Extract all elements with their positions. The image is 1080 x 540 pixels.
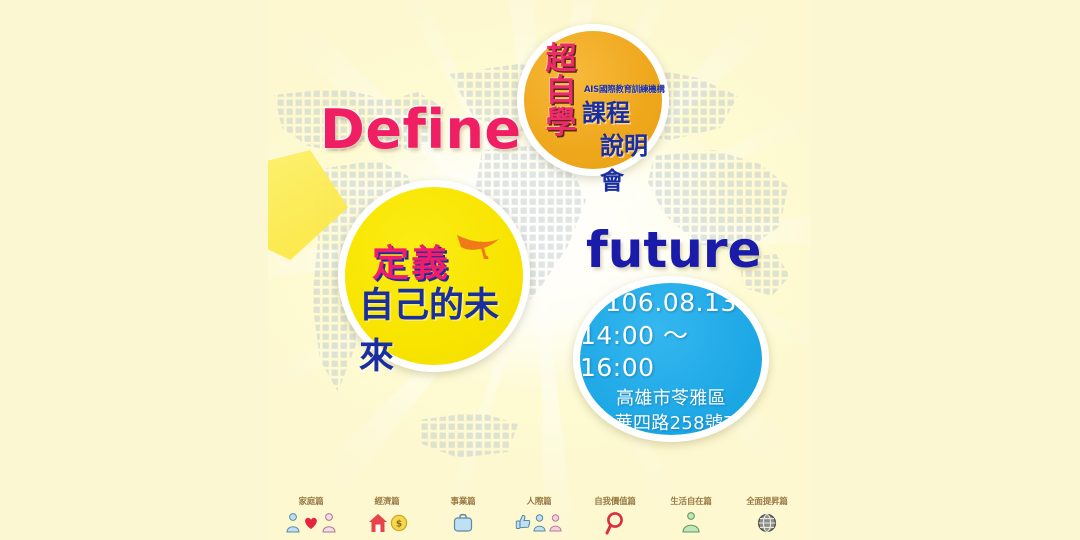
event-address-line-2: 中華四路258號7F [596,412,745,435]
topic-item-self-worth[interactable]: 自我價值篇 [583,495,647,536]
topic-label-overall-growth: 全面提昇篇 [746,495,788,507]
yellow-circle-slogan[interactable]: 定義 自己的未來 [338,180,530,372]
orange-line-kecheng: 課程 [582,93,630,128]
event-date: 106.08.13 [605,287,737,319]
vertical-char-2: 自 [540,75,582,107]
topic-item-family[interactable]: 家庭篇 [279,495,343,536]
blue-circle-event-info[interactable]: 106.08.13 14:00 ～ 16:00 高雄市苓雅區 中華四路258號7… [573,276,769,442]
topic-item-economy[interactable]: 經濟篇 $ [355,495,419,536]
globe-icon [756,510,778,536]
topic-label-economy: 經濟篇 [375,495,400,507]
briefcase-icon [451,510,475,536]
topic-item-career[interactable]: 事業篇 [431,495,495,536]
topic-item-overall-growth[interactable]: 全面提昇篇 [735,495,799,536]
wordmark-define: Define [320,98,522,161]
orange-circle-seminar[interactable]: 超 自 學 AIS國際教育訓練機構 課程 說明會 [517,24,669,176]
vertical-char-1: 超 [540,43,582,75]
thumbs-up-people-icon [515,510,563,536]
vertical-title-chaozixue: 超 自 學 [540,43,582,140]
left-margin [0,0,272,540]
poster-canvas: Define future 超 自 學 AIS國際教育訓練機構 課程 說明會 定… [0,0,1080,540]
poster-artwork: Define future 超 自 學 AIS國際教育訓練機構 課程 說明會 定… [268,0,810,540]
svg-text:$: $ [395,520,401,530]
wordmark-future: future [586,221,761,279]
topic-item-life-ease[interactable]: 生活自在篇 [659,495,723,536]
magnifier-icon [604,510,626,536]
event-address-line-1: 高雄市苓雅區 [616,387,726,410]
person-relax-icon [680,510,702,536]
topic-label-relationship: 人際篇 [527,495,552,507]
topic-label-life-ease: 生活自在篇 [670,495,712,507]
vertical-char-3: 學 [540,107,582,139]
house-coin-icon: $ [367,510,408,536]
swoosh-mark-icon [455,229,501,259]
topic-icon-strip: 家庭篇 經濟篇 [268,495,810,536]
topic-label-self-worth: 自我價值篇 [594,495,636,507]
topic-label-career: 事業篇 [451,495,476,507]
topic-label-family: 家庭篇 [299,495,324,507]
event-time: 14:00 ～ 16:00 [580,320,762,384]
topic-item-relationship[interactable]: 人際篇 [507,495,571,536]
right-margin [810,0,1080,540]
orange-line-shuominghui: 說明會 [600,126,662,196]
family-heart-icon [284,510,338,536]
slogan-line-zijidewelai: 自己的未來 [359,277,523,379]
